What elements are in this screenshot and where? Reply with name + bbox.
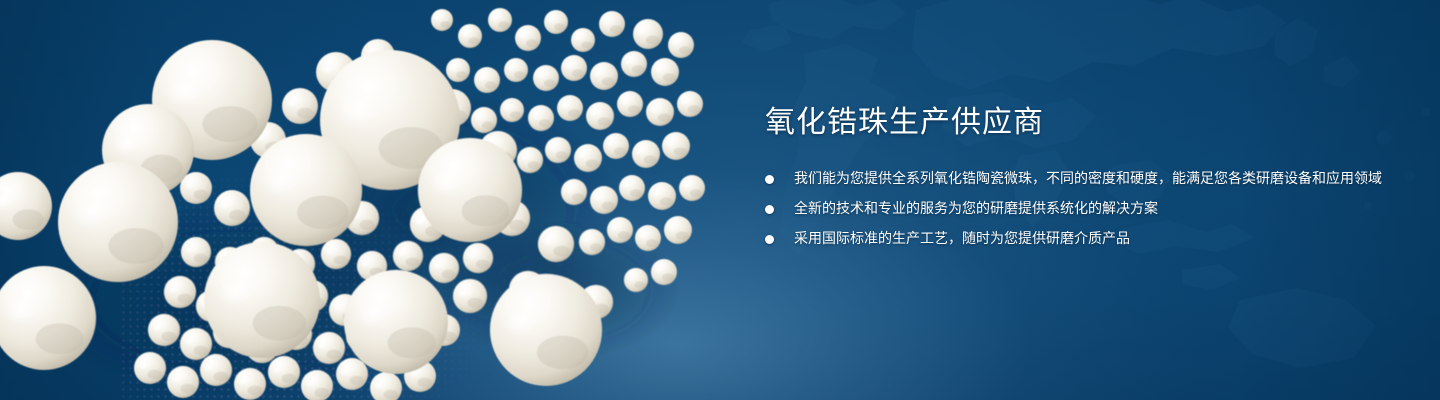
page-title: 氧化锆珠生产供应商 [765, 104, 1385, 142]
list-item: 采用国际标准的生产工艺，随时为您提供研磨介质产品 [765, 228, 1385, 251]
bullet-dot-icon [765, 235, 774, 244]
list-item-label: 我们能为您提供全系列氧化锆陶瓷微珠，不同的密度和硬度，能满足您各类研磨设备和应用… [794, 168, 1385, 191]
list-item: 我们能为您提供全系列氧化锆陶瓷微珠，不同的密度和硬度，能满足您各类研磨设备和应用… [765, 168, 1385, 191]
bullet-dot-icon [765, 175, 774, 184]
hero-banner: 氧化锆珠生产供应商 我们能为您提供全系列氧化锆陶瓷微珠，不同的密度和硬度，能满足… [0, 0, 1440, 400]
list-item: 全新的技术和专业的服务为您的研磨提供系统化的解决方案 [765, 198, 1385, 221]
bullet-dot-icon [765, 205, 774, 214]
banner-copy: 氧化锆珠生产供应商 我们能为您提供全系列氧化锆陶瓷微珠，不同的密度和硬度，能满足… [765, 104, 1385, 251]
list-item-label: 全新的技术和专业的服务为您的研磨提供系统化的解决方案 [794, 198, 1385, 221]
feature-list: 我们能为您提供全系列氧化锆陶瓷微珠，不同的密度和硬度，能满足您各类研磨设备和应用… [765, 168, 1385, 251]
list-item-label: 采用国际标准的生产工艺，随时为您提供研磨介质产品 [794, 228, 1385, 251]
